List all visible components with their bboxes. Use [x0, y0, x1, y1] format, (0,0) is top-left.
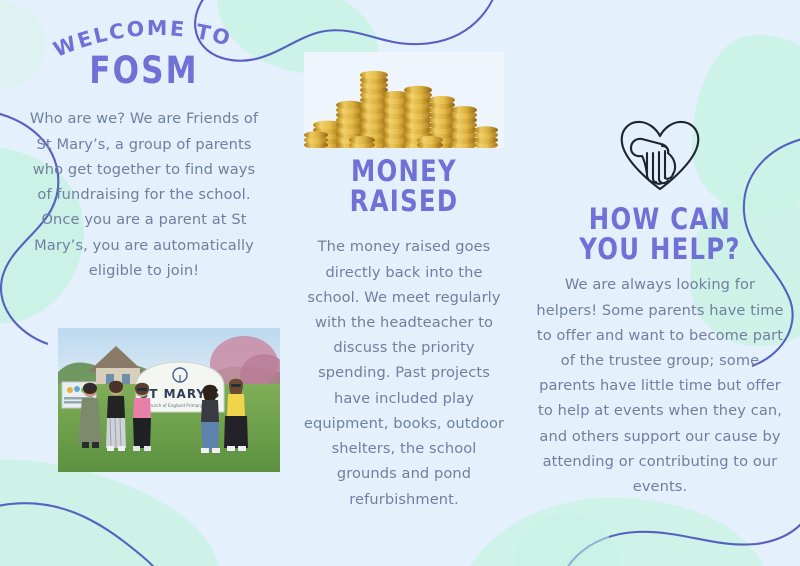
- heart-handshake-icon: [534, 118, 786, 194]
- gold-coin-stacks-image: [298, 52, 510, 148]
- middle-column-body: The money raised goes directly back into…: [298, 234, 510, 512]
- middle-column: MONEY RAISED The money raised goes direc…: [288, 0, 520, 566]
- right-column-body: We are always looking for helpers! Some …: [534, 272, 786, 499]
- right-column: HOW CAN YOU HELP? We are always looking …: [520, 0, 800, 566]
- poster-canvas: WELCOME TO FOSM Who are we? We are Frien…: [0, 0, 800, 566]
- section-title-money-raised: MONEY RAISED: [315, 156, 493, 216]
- page-title-fosm: FOSM: [42, 52, 247, 90]
- section-title-how-can-you-help: HOW CAN YOU HELP?: [554, 204, 766, 264]
- left-column: WELCOME TO FOSM Who are we? We are Frien…: [0, 0, 288, 566]
- poster-columns: WELCOME TO FOSM Who are we? We are Frien…: [0, 0, 800, 566]
- left-column-body: Who are we? We are Friends of St Mary’s,…: [22, 106, 266, 283]
